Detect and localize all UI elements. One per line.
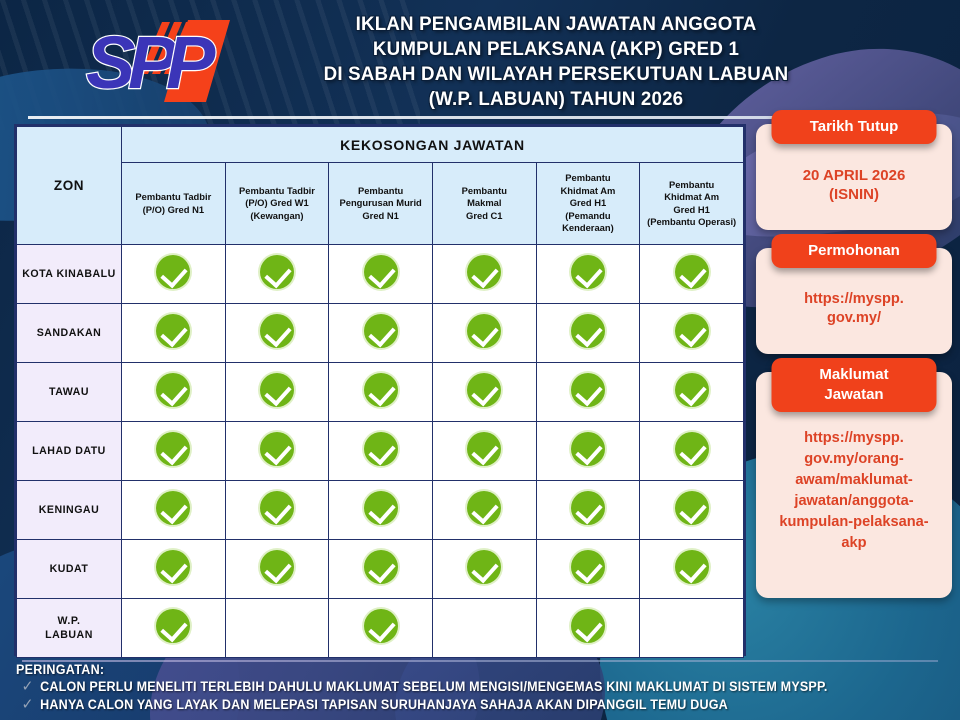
- vacancy-available-cell: [225, 245, 329, 304]
- check-circle-icon: [364, 314, 398, 348]
- table-row: SANDAKAN: [17, 304, 744, 363]
- vacancy-available-cell: [640, 540, 744, 599]
- check-circle-icon: [467, 373, 501, 407]
- check-mark-icon: ✓: [22, 696, 34, 714]
- check-circle-icon: [571, 550, 605, 584]
- vacancy-available-cell: [225, 481, 329, 540]
- vacancy-table-container: ZON KEKOSONGAN JAWATAN Pembantu Tadbir(P…: [14, 124, 746, 656]
- table-row: TAWAU: [17, 363, 744, 422]
- check-circle-icon: [260, 314, 294, 348]
- check-circle-icon: [156, 314, 190, 348]
- table-header-row-1: ZON KEKOSONGAN JAWATAN: [17, 127, 744, 163]
- column-header-zon: ZON: [17, 127, 122, 245]
- check-circle-icon: [364, 432, 398, 466]
- check-circle-icon: [675, 550, 709, 584]
- vacancy-available-cell: [432, 540, 536, 599]
- footer-heading: PERINGATAN:: [16, 662, 881, 677]
- zone-name-cell: KOTA KINABALU: [17, 245, 122, 304]
- job-info-card[interactable]: MaklumatJawatan https://myspp.gov.my/ora…: [756, 372, 952, 598]
- vacancy-available-cell: [536, 481, 640, 540]
- vacancy-available-cell: [329, 304, 433, 363]
- vacancy-available-cell: [536, 304, 640, 363]
- check-circle-icon: [675, 314, 709, 348]
- closing-date-card: Tarikh Tutup 20 APRIL 2026(ISNIN): [756, 124, 952, 230]
- check-circle-icon: [571, 314, 605, 348]
- check-circle-icon: [467, 255, 501, 289]
- check-circle-icon: [675, 373, 709, 407]
- check-circle-icon: [364, 255, 398, 289]
- check-circle-icon: [260, 255, 294, 289]
- poster-title-line-2: KUMPULAN PELAKSANA (AKP) GRED 1: [268, 37, 844, 62]
- column-header-1: Pembantu Tadbir(P/O) Gred N1: [122, 163, 226, 245]
- vacancy-available-cell: [225, 422, 329, 481]
- poster-title-line-4: (W.P. LABUAN) TAHUN 2026: [268, 87, 844, 112]
- check-circle-icon: [260, 432, 294, 466]
- vacancy-empty-cell: [225, 599, 329, 658]
- footer-notice-item: ✓HANYA CALON YANG LAYAK DAN MELEPASI TAP…: [16, 696, 881, 714]
- vacancy-available-cell: [122, 245, 226, 304]
- poster-header: S P P IKLAN PENGAMBILAN JAWATAN ANGGOTA …: [0, 0, 960, 118]
- check-circle-icon: [156, 373, 190, 407]
- vacancy-available-cell: [329, 245, 433, 304]
- vacancy-available-cell: [536, 245, 640, 304]
- vacancy-available-cell: [640, 422, 744, 481]
- table-row: KOTA KINABALU: [17, 245, 744, 304]
- check-circle-icon: [156, 255, 190, 289]
- check-circle-icon: [156, 550, 190, 584]
- vacancy-available-cell: [640, 363, 744, 422]
- vacancy-available-cell: [640, 481, 744, 540]
- vacancy-table-head: ZON KEKOSONGAN JAWATAN Pembantu Tadbir(P…: [17, 127, 744, 245]
- vacancy-available-cell: [122, 540, 226, 599]
- vacancy-table: ZON KEKOSONGAN JAWATAN Pembantu Tadbir(P…: [16, 126, 744, 658]
- svg-text:P: P: [166, 21, 216, 104]
- check-circle-icon: [571, 255, 605, 289]
- check-circle-icon: [364, 491, 398, 525]
- footer-notice-list: ✓CALON PERLU MENELITI TERLEBIH DAHULU MA…: [16, 678, 881, 714]
- vacancy-available-cell: [329, 422, 433, 481]
- check-circle-icon: [156, 432, 190, 466]
- check-circle-icon: [675, 491, 709, 525]
- vacancy-available-cell: [536, 599, 640, 658]
- vacancy-available-cell: [225, 304, 329, 363]
- check-mark-icon: ✓: [22, 678, 34, 696]
- vacancy-available-cell: [329, 363, 433, 422]
- vacancy-available-cell: [432, 363, 536, 422]
- spp-logo: S P P: [84, 12, 244, 108]
- check-circle-icon: [467, 314, 501, 348]
- zone-name-cell: KUDAT: [17, 540, 122, 599]
- vacancy-available-cell: [225, 540, 329, 599]
- zone-name-cell: TAWAU: [17, 363, 122, 422]
- vacancy-empty-cell: [640, 599, 744, 658]
- zone-name-cell: SANDAKAN: [17, 304, 122, 363]
- check-circle-icon: [571, 491, 605, 525]
- check-circle-icon: [260, 550, 294, 584]
- table-row: W.P.LABUAN: [17, 599, 744, 658]
- job-info-badge: MaklumatJawatan: [772, 358, 937, 412]
- vacancy-available-cell: [536, 540, 640, 599]
- column-header-6: PembantuKhidmat AmGred H1(Pembantu Opera…: [640, 163, 744, 245]
- vacancy-available-cell: [536, 422, 640, 481]
- footer-notice-item: ✓CALON PERLU MENELITI TERLEBIH DAHULU MA…: [16, 678, 881, 696]
- vacancy-empty-cell: [432, 599, 536, 658]
- check-circle-icon: [364, 373, 398, 407]
- check-circle-icon: [467, 550, 501, 584]
- poster-title-line-3: DI SABAH DAN WILAYAH PERSEKUTUAN LABUAN: [268, 62, 844, 87]
- application-card[interactable]: Permohonan https://myspp.gov.my/: [756, 248, 952, 354]
- table-row: KENINGAU: [17, 481, 744, 540]
- check-circle-icon: [156, 609, 190, 643]
- vacancy-available-cell: [329, 481, 433, 540]
- vacancy-available-cell: [122, 363, 226, 422]
- vacancy-available-cell: [640, 245, 744, 304]
- zone-name-cell: LAHAD DATU: [17, 422, 122, 481]
- table-row: KUDAT: [17, 540, 744, 599]
- check-circle-icon: [675, 255, 709, 289]
- check-circle-icon: [364, 609, 398, 643]
- application-url[interactable]: https://myspp.gov.my/: [766, 282, 942, 328]
- poster-title: IKLAN PENGAMBILAN JAWATAN ANGGOTA KUMPUL…: [268, 12, 844, 112]
- column-group-header-kekosongan: KEKOSONGAN JAWATAN: [122, 127, 744, 163]
- column-header-5: PembantuKhidmat AmGred H1(Pemandu Kender…: [536, 163, 640, 245]
- zone-name-cell: W.P.LABUAN: [17, 599, 122, 658]
- vacancy-available-cell: [122, 599, 226, 658]
- vacancy-available-cell: [225, 363, 329, 422]
- column-header-4: PembantuMakmalGred C1: [432, 163, 536, 245]
- check-circle-icon: [467, 432, 501, 466]
- check-circle-icon: [675, 432, 709, 466]
- vacancy-available-cell: [536, 363, 640, 422]
- vacancy-available-cell: [329, 599, 433, 658]
- vacancy-available-cell: [432, 304, 536, 363]
- check-circle-icon: [156, 491, 190, 525]
- vacancy-available-cell: [432, 481, 536, 540]
- application-badge: Permohonan: [772, 234, 937, 268]
- vacancy-available-cell: [432, 245, 536, 304]
- closing-date-value: 20 APRIL 2026(ISNIN): [766, 158, 942, 204]
- check-circle-icon: [571, 432, 605, 466]
- vacancy-available-cell: [432, 422, 536, 481]
- column-header-2: Pembantu Tadbir(P/O) Gred W1(Kewangan): [225, 163, 329, 245]
- footer-notice: PERINGATAN: ✓CALON PERLU MENELITI TERLEB…: [16, 662, 881, 714]
- zone-name-cell: KENINGAU: [17, 481, 122, 540]
- info-cards-panel: Tarikh Tutup 20 APRIL 2026(ISNIN) Permoh…: [756, 124, 952, 616]
- check-circle-icon: [260, 491, 294, 525]
- table-row: LAHAD DATU: [17, 422, 744, 481]
- vacancy-available-cell: [329, 540, 433, 599]
- vacancy-available-cell: [122, 304, 226, 363]
- check-circle-icon: [571, 609, 605, 643]
- vacancy-table-body: KOTA KINABALUSANDAKANTAWAULAHAD DATUKENI…: [17, 245, 744, 658]
- check-circle-icon: [364, 550, 398, 584]
- column-header-3: PembantuPengurusan MuridGred N1: [329, 163, 433, 245]
- check-circle-icon: [260, 373, 294, 407]
- vacancy-available-cell: [122, 422, 226, 481]
- check-circle-icon: [571, 373, 605, 407]
- vacancy-available-cell: [122, 481, 226, 540]
- vacancy-available-cell: [640, 304, 744, 363]
- table-header-row-2: Pembantu Tadbir(P/O) Gred N1Pembantu Tad…: [17, 163, 744, 245]
- closing-date-badge: Tarikh Tutup: [772, 110, 937, 144]
- check-circle-icon: [467, 491, 501, 525]
- job-info-url[interactable]: https://myspp.gov.my/orang-awam/maklumat…: [766, 406, 942, 554]
- poster-title-line-1: IKLAN PENGAMBILAN JAWATAN ANGGOTA: [268, 12, 844, 37]
